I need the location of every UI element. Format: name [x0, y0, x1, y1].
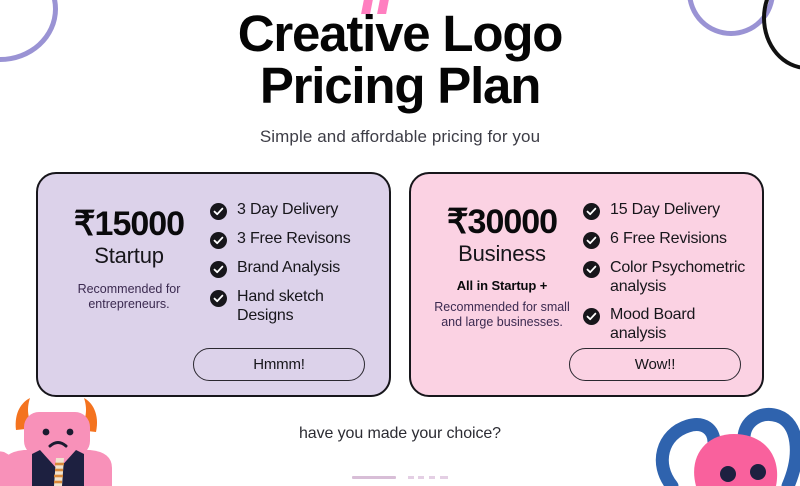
check-icon — [583, 261, 600, 278]
pricing-card-business[interactable]: ₹30000 Business All in Startup + Recomme… — [409, 172, 764, 397]
page-title-line-1: Creative Logo — [238, 5, 562, 62]
list-item: Color Psychometric analysis — [583, 258, 746, 296]
plan-name-business: Business — [427, 240, 577, 268]
page-title-line-2: Pricing Plan — [260, 57, 540, 114]
plan-name-startup: Startup — [54, 242, 204, 270]
feature-label: 3 Day Delivery — [237, 200, 338, 219]
check-icon — [583, 308, 600, 325]
feature-label: Hand sketch Designs — [237, 287, 373, 325]
pricing-cards-container: ₹15000 Startup Recommended for entrepren… — [36, 172, 764, 397]
cta-button-startup[interactable]: Hmmm! — [193, 348, 365, 381]
feature-label: 6 Free Revisions — [610, 229, 727, 248]
list-item: 3 Free Revisons — [210, 229, 373, 249]
feature-label: 15 Day Delivery — [610, 200, 720, 219]
page-header: Creative Logo Pricing Plan Simple and af… — [0, 0, 800, 147]
check-icon — [583, 203, 600, 220]
price-business: ₹30000 — [427, 204, 577, 240]
footer-watermark — [352, 472, 448, 480]
list-item: 6 Free Revisions — [583, 229, 746, 249]
footer-question: have you made your choice? — [0, 425, 800, 443]
feature-label: 3 Free Revisons — [237, 229, 351, 248]
feature-label: Brand Analysis — [237, 258, 340, 277]
list-item: Brand Analysis — [210, 258, 373, 278]
check-icon — [210, 232, 227, 249]
check-icon — [210, 261, 227, 278]
list-item: 3 Day Delivery — [210, 200, 373, 220]
list-item: Mood Board analysis — [583, 305, 746, 343]
page-title: Creative Logo Pricing Plan — [0, 0, 800, 112]
check-icon — [210, 290, 227, 307]
feature-label: Color Psychometric analysis — [610, 258, 746, 296]
check-icon — [583, 232, 600, 249]
all-in-badge-business: All in Startup + — [427, 278, 577, 293]
price-startup: ₹15000 — [54, 206, 204, 242]
recommend-text-business: Recommended for small and large business… — [427, 300, 577, 330]
pricing-card-startup[interactable]: ₹15000 Startup Recommended for entrepren… — [36, 172, 391, 397]
cta-button-business[interactable]: Wow!! — [569, 348, 741, 381]
pricing-card-business-summary: ₹30000 Business All in Startup + Recomme… — [427, 190, 577, 395]
list-item: Hand sketch Designs — [210, 287, 373, 325]
pricing-card-startup-summary: ₹15000 Startup Recommended for entrepren… — [54, 190, 204, 395]
list-item: 15 Day Delivery — [583, 200, 746, 220]
check-icon — [210, 203, 227, 220]
recommend-text-startup: Recommended for entrepreneurs. — [54, 282, 204, 312]
page-subtitle: Simple and affordable pricing for you — [0, 112, 800, 147]
feature-label: Mood Board analysis — [610, 305, 746, 343]
